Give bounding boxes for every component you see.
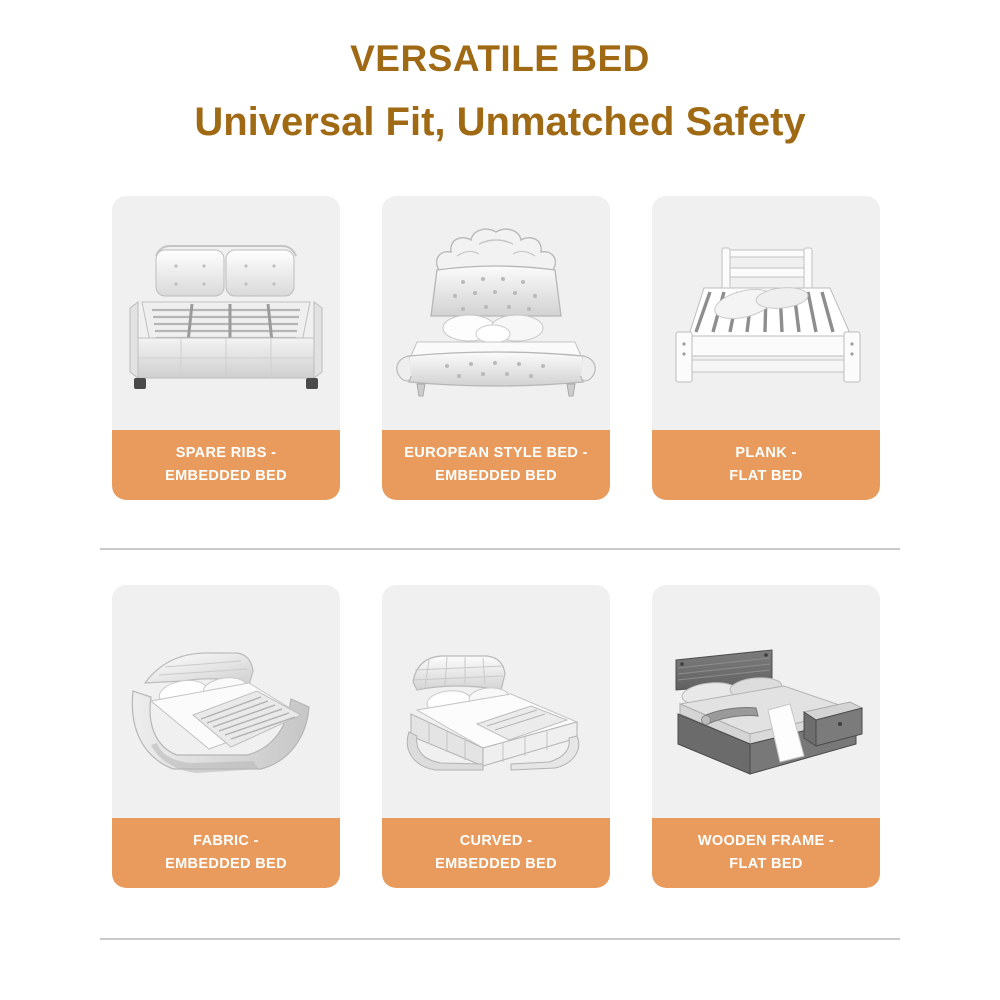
versatile-bed-infographic: VERSATILE BED Universal Fit, Unmatched S… xyxy=(0,0,1000,1000)
bed-card-label: WOODEN FRAME - FLAT BED xyxy=(652,818,880,888)
label-line-2: EMBEDDED BED xyxy=(388,465,604,487)
bed-card-european-style[interactable]: EUROPEAN STYLE BED - EMBEDDED BED xyxy=(382,196,610,500)
bed-card-row-1: SPARE RIBS - EMBEDDED BED xyxy=(112,196,880,500)
bed-card-fabric[interactable]: FABRIC - EMBEDDED BED xyxy=(112,585,340,888)
label-line-1: SPARE RIBS - xyxy=(118,442,334,464)
bed-card-label: EUROPEAN STYLE BED - EMBEDDED BED xyxy=(382,430,610,500)
label-line-2: EMBEDDED BED xyxy=(118,465,334,487)
label-line-2: FLAT BED xyxy=(658,465,874,487)
curved-embedded-bed-photo xyxy=(382,585,610,833)
bed-card-curved[interactable]: CURVED - EMBEDDED BED xyxy=(382,585,610,888)
label-line-1: CURVED - xyxy=(388,830,604,852)
fabric-embedded-bed-photo xyxy=(112,585,340,833)
label-line-1: PLANK - xyxy=(658,442,874,464)
label-line-1: WOODEN FRAME - xyxy=(658,830,874,852)
bed-card-label: CURVED - EMBEDDED BED xyxy=(382,818,610,888)
bed-card-plank[interactable]: PLANK - FLAT BED xyxy=(652,196,880,500)
label-line-1: EUROPEAN STYLE BED - xyxy=(388,442,604,464)
plank-flat-bed-photo xyxy=(652,196,880,437)
bed-card-spare-ribs[interactable]: SPARE RIBS - EMBEDDED BED xyxy=(112,196,340,500)
bed-card-label: PLANK - FLAT BED xyxy=(652,430,880,500)
bed-card-wooden-frame[interactable]: WOODEN FRAME - FLAT BED xyxy=(652,585,880,888)
label-line-2: EMBEDDED BED xyxy=(118,853,334,875)
label-line-1: FABRIC - xyxy=(118,830,334,852)
label-line-2: FLAT BED xyxy=(658,853,874,875)
spare-ribs-embedded-bed-photo xyxy=(112,196,340,437)
european-style-embedded-bed-photo xyxy=(382,196,610,437)
bed-card-row-2: FABRIC - EMBEDDED BED xyxy=(112,585,880,888)
label-line-2: EMBEDDED BED xyxy=(388,853,604,875)
header: VERSATILE BED Universal Fit, Unmatched S… xyxy=(0,40,1000,143)
page-subtitle: Universal Fit, Unmatched Safety xyxy=(0,101,1000,143)
wooden-frame-flat-bed-photo xyxy=(652,585,880,833)
bed-card-label: FABRIC - EMBEDDED BED xyxy=(112,818,340,888)
section-divider-bottom xyxy=(100,938,900,940)
section-divider-middle xyxy=(100,548,900,550)
page-title: VERSATILE BED xyxy=(0,40,1000,79)
bed-card-label: SPARE RIBS - EMBEDDED BED xyxy=(112,430,340,500)
